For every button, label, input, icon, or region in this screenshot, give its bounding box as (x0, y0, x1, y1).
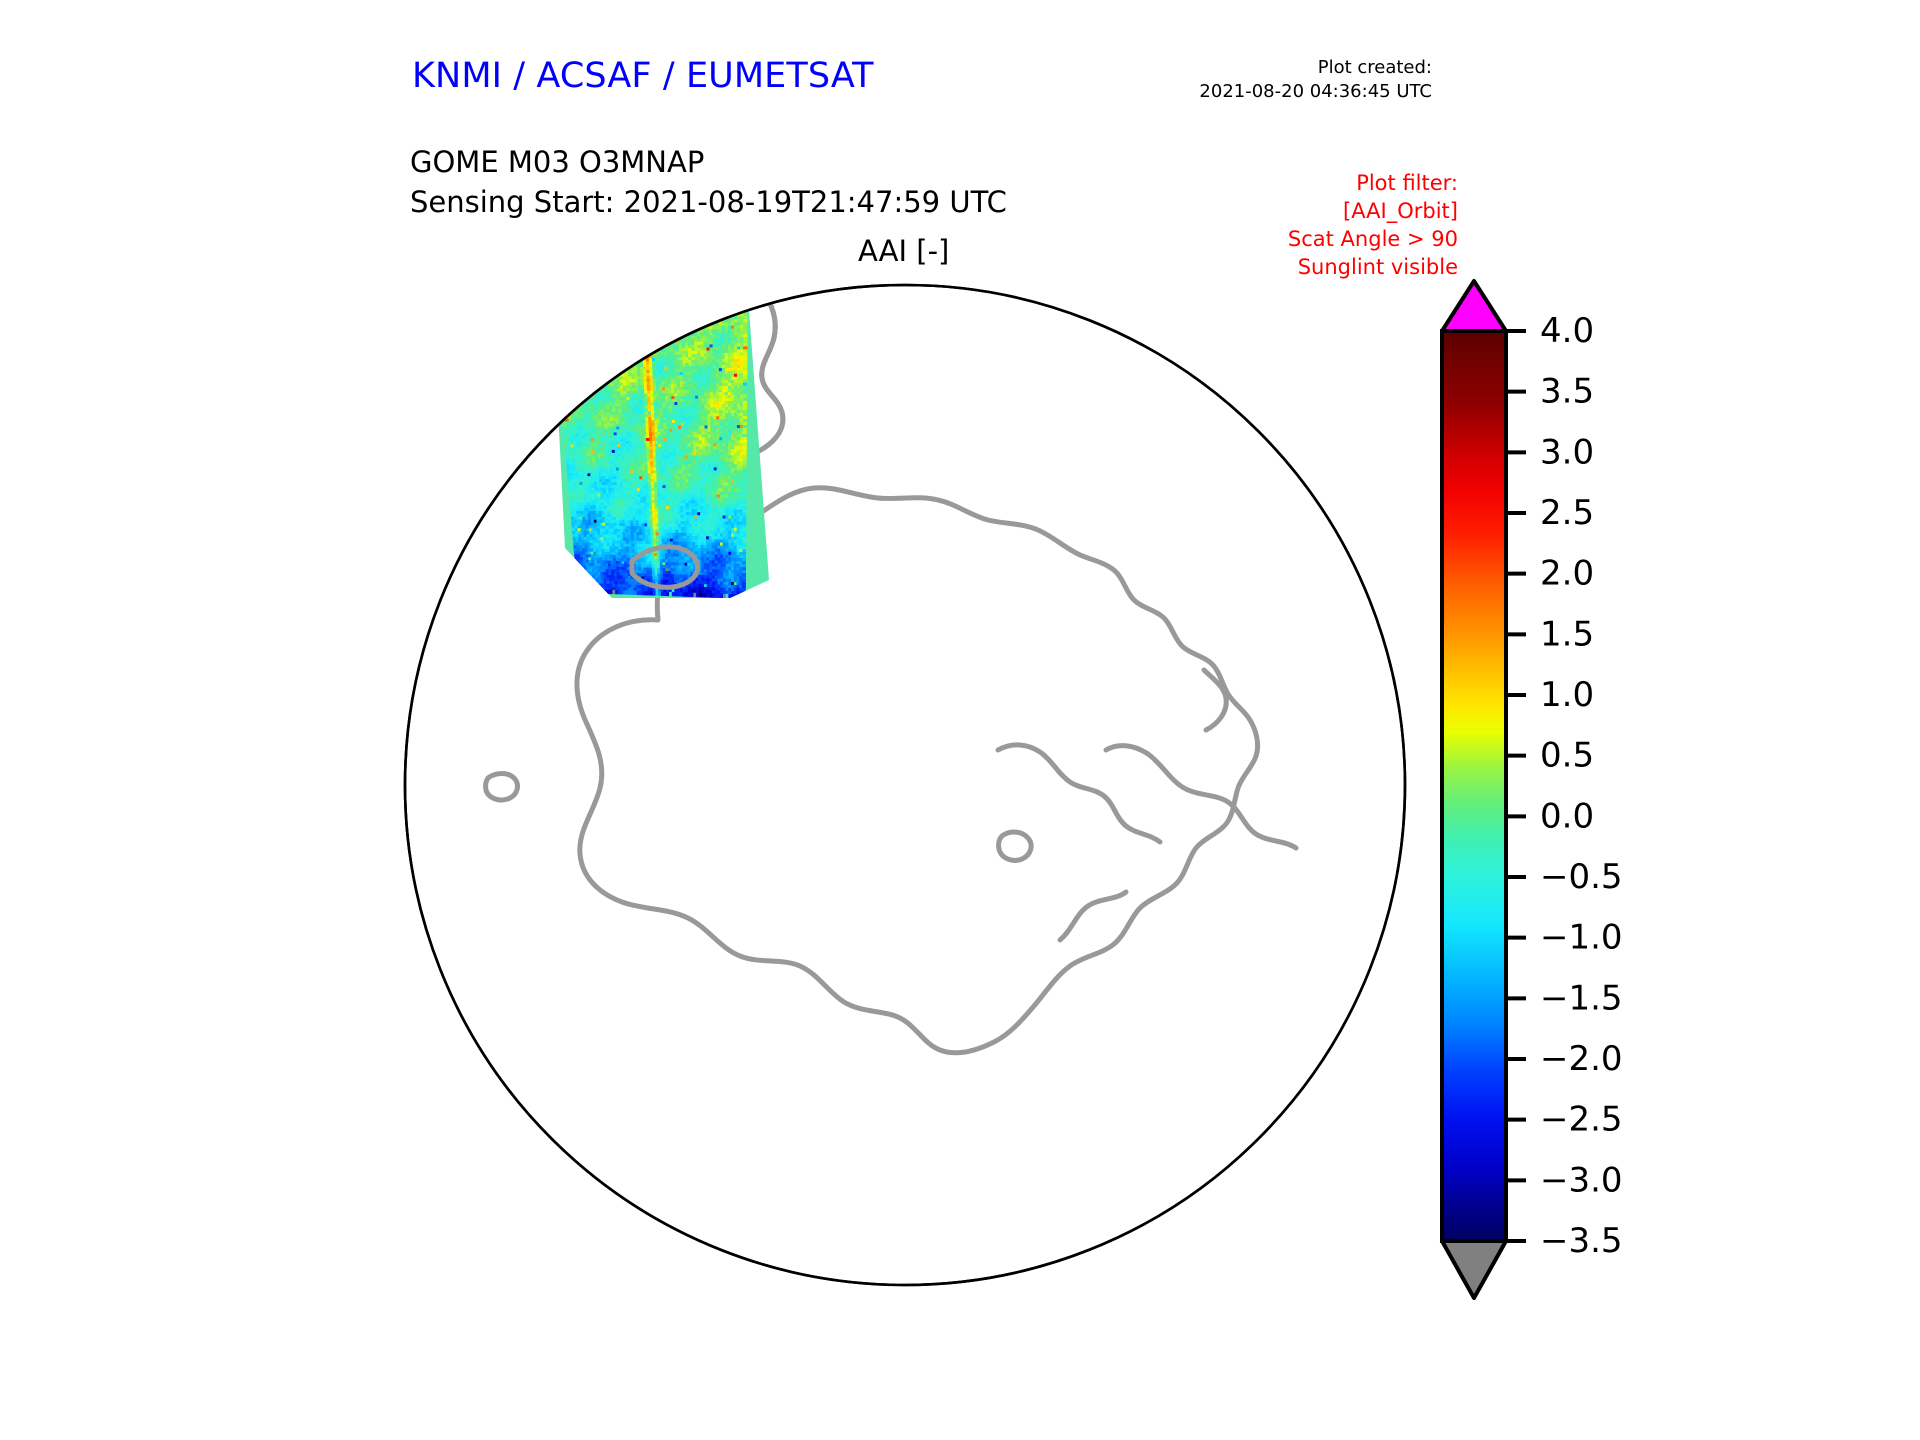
swath-pixel (554, 315, 559, 319)
swath-pixel (630, 338, 634, 342)
swath-pixel (651, 340, 655, 344)
swath-pixel (625, 300, 629, 304)
swath-pixel (579, 366, 583, 370)
swath-pixel (651, 331, 655, 335)
swath-pixel (561, 395, 565, 399)
swath-pixel (596, 336, 600, 340)
swath-pixel (587, 345, 591, 349)
swath-pixel (567, 398, 571, 402)
swath-pixel (573, 363, 577, 367)
swath-pixel (615, 356, 619, 360)
polar-map (400, 280, 1410, 1290)
swath-pixel (566, 358, 570, 362)
swath-pixel (622, 365, 626, 369)
swath-pixel (578, 308, 583, 312)
swath-pixel (624, 341, 628, 345)
swath-pixel (567, 404, 571, 408)
swath-pixel (592, 371, 596, 375)
swath-pixel (703, 306, 707, 310)
swath-pixel (622, 362, 626, 366)
swath-pixel (603, 354, 607, 358)
swath-pixel (642, 344, 646, 348)
swath-pixel (616, 315, 620, 319)
swath-pixel (559, 309, 564, 313)
swath-pixel (644, 311, 648, 315)
swath-pixel (587, 342, 591, 346)
swath-pixel (607, 365, 611, 369)
swath-pixel (636, 335, 640, 339)
swath-pixel (684, 291, 688, 295)
swath-pixel (576, 366, 580, 370)
swath-pixel (586, 328, 590, 332)
swath-pixel (621, 294, 625, 298)
swath-pixel (565, 300, 570, 304)
swath-pixel (699, 285, 703, 289)
swath-pixel (665, 301, 669, 305)
swath-pixel (602, 348, 606, 352)
swath-pixel (652, 290, 656, 294)
swath-pixel (625, 359, 629, 363)
swath-pixel (566, 308, 571, 312)
swath-pixel (583, 334, 587, 338)
swath-pixel (564, 291, 569, 295)
swath-pixel (615, 289, 620, 293)
swath-pixel (631, 306, 635, 310)
swath-pixel (687, 297, 691, 301)
swath-pixel (725, 296, 729, 300)
swath-pixel (623, 324, 627, 328)
swath-pixel (650, 299, 654, 303)
swath-pixel (597, 304, 602, 308)
swath-pixel (558, 294, 563, 298)
swath-pixel (734, 292, 738, 296)
swath-pixel (569, 355, 573, 359)
swath-pixel (633, 338, 637, 342)
swath-pixel (614, 336, 618, 340)
swath-pixel (684, 303, 688, 307)
swath-pixel (653, 320, 657, 324)
swath-pixel (558, 297, 563, 301)
swath-pixel (570, 326, 575, 330)
swath-pixel (615, 306, 619, 310)
swath-pixel (582, 366, 586, 370)
swath-pixel (584, 302, 589, 306)
swath-pixel (615, 350, 619, 354)
swath-pixel (571, 297, 576, 301)
swath-pixel (666, 337, 670, 341)
swath-pixel (688, 318, 692, 322)
swath-pixel (637, 294, 641, 298)
swath-pixel (595, 371, 599, 375)
swath-pixel (624, 353, 628, 357)
swath-pixel (570, 401, 574, 405)
swath-pixel (674, 286, 678, 290)
swath-pixel (622, 306, 626, 310)
swath-pixel (607, 315, 611, 319)
swath-pixel (606, 310, 610, 314)
filter-label: Plot filter: (1288, 170, 1458, 198)
swath-pixel (709, 311, 713, 315)
swath-pixel (663, 313, 667, 317)
swath-pixel (597, 363, 601, 367)
swath-pixel (563, 358, 567, 362)
swath-pixel (696, 285, 700, 289)
swath-pixel (662, 287, 666, 291)
swath-pixel (700, 312, 704, 316)
swath-pixel (600, 304, 605, 308)
swath-pixel (620, 327, 624, 331)
swath-pixel (600, 354, 604, 358)
swath-pixel (596, 383, 600, 387)
swath-pixel (567, 401, 571, 405)
plot-created-label: Plot created: (1199, 56, 1432, 80)
swath-pixel (626, 324, 630, 328)
swath-pixel (593, 342, 597, 346)
swath-pixel (615, 303, 619, 307)
swath-pixel (700, 318, 704, 322)
swath-pixel (697, 309, 701, 313)
swath-pixel (678, 301, 682, 305)
swath-pixel (625, 303, 629, 307)
swath-pixel (660, 331, 664, 335)
swath-pixel (656, 293, 660, 297)
swath-pixel (636, 341, 640, 345)
swath-pixel (630, 350, 634, 354)
swath-pixel (685, 321, 689, 325)
swath-pixel (712, 311, 716, 315)
swath-pixel (597, 316, 601, 320)
swath-pixel (572, 389, 576, 393)
swath-pixel (564, 323, 569, 327)
swath-pixel (693, 294, 697, 298)
swath-pixel (637, 297, 641, 301)
swath-pixel (740, 304, 744, 308)
swath-pixel (641, 323, 645, 327)
swath-pixel (580, 334, 584, 338)
swath-pixel (743, 286, 747, 290)
swath-pixel (603, 301, 608, 305)
swath-pixel (737, 301, 741, 305)
swath-pixel (659, 296, 663, 300)
swath-pixel (595, 331, 599, 335)
swath-pixel (556, 346, 561, 350)
swath-pixel (666, 319, 670, 323)
swath-pixel (637, 356, 641, 360)
swath-pixel (558, 326, 563, 330)
swath-pixel (552, 292, 557, 296)
swath-pixel (694, 312, 698, 316)
swath-pixel (574, 340, 578, 344)
swath-pixel (672, 307, 676, 311)
swath-pixel (571, 334, 576, 338)
swath-pixel (681, 315, 685, 319)
swath-pixel (694, 309, 698, 313)
swath-pixel (700, 291, 704, 295)
swath-pixel (657, 343, 661, 347)
swath-pixel (571, 375, 575, 379)
swath-pixel (621, 344, 625, 348)
swath-pixel (643, 299, 647, 303)
swath-pixel (681, 286, 685, 290)
swath-pixel (552, 297, 557, 301)
swath-pixel (585, 360, 589, 364)
swath-pixel (591, 310, 596, 314)
swath-pixel (636, 344, 640, 348)
swath-pixel (592, 374, 596, 378)
swath-pixel (588, 313, 593, 317)
swath-pixel (681, 292, 685, 296)
product-name: GOME M03 O3MNAP (410, 142, 1007, 182)
swath-pixel (595, 374, 599, 378)
swath-pixel (591, 357, 595, 361)
swath-pixel (578, 343, 582, 347)
swath-pixel (706, 314, 710, 318)
swath-pixel (565, 372, 569, 376)
swath-pixel (681, 318, 685, 322)
swath-pixel (575, 392, 579, 396)
swath-pixel (602, 345, 606, 349)
swath-pixel (565, 381, 569, 385)
swath-pixel (712, 308, 716, 312)
swath-pixel (659, 301, 663, 305)
swath-pixel (609, 307, 613, 311)
swath-pixel (653, 317, 657, 321)
swath-pixel (616, 312, 620, 316)
swath-pixel (630, 341, 634, 345)
swath-pixel (623, 338, 627, 342)
swath-pixel (602, 289, 607, 293)
swath-pixel (620, 333, 624, 337)
swath-pixel (612, 350, 616, 354)
swath-pixel (563, 355, 567, 359)
swath-pixel (585, 357, 589, 361)
swath-pixel (645, 346, 649, 350)
swath-pixel (643, 287, 647, 291)
swath-pixel (650, 314, 654, 318)
swath-pixel (696, 288, 700, 292)
swath-pixel (613, 321, 617, 325)
swath-pixel (576, 328, 581, 332)
swath-pixel (697, 306, 701, 310)
swath-pixel (601, 368, 605, 372)
swath-pixel (636, 350, 640, 354)
swath-pixel (561, 404, 565, 408)
swath-pixel (697, 321, 701, 325)
swath-pixel (690, 309, 694, 313)
swath-pixel (651, 337, 655, 341)
swath-pixel (624, 347, 628, 351)
swath-pixel (587, 348, 591, 352)
swath-pixel (586, 325, 590, 329)
swath-pixel (627, 344, 631, 348)
swath-pixel (570, 369, 574, 373)
swath-pixel (589, 334, 593, 338)
swath-pixel (725, 311, 729, 315)
swath-pixel (740, 292, 744, 296)
swath-pixel (654, 328, 658, 332)
swath-pixel (584, 383, 588, 387)
swath-pixel (728, 308, 732, 312)
swath-pixel (580, 340, 584, 344)
swath-pixel (740, 301, 744, 305)
swath-pixel (591, 366, 595, 370)
swath-pixel (665, 298, 669, 302)
swath-pixel (675, 316, 679, 320)
swath-pixel (605, 289, 610, 293)
swath-pixel (572, 346, 576, 350)
swath-pixel (556, 309, 561, 313)
swath-pixel (565, 303, 570, 307)
swath-pixel (690, 288, 694, 292)
swath-pixel (649, 293, 653, 297)
swath-pixel (567, 363, 571, 367)
swath-pixel (589, 331, 593, 335)
plot-created-timestamp: 2021-08-20 04:36:45 UTC (1199, 80, 1432, 104)
swath-pixel (565, 340, 570, 344)
swath-pixel (553, 309, 558, 313)
swath-pixel (734, 295, 738, 299)
swath-pixel (608, 292, 613, 296)
swath-pixel (617, 333, 621, 337)
swath-pixel (580, 372, 584, 376)
swath-pixel (558, 335, 563, 339)
swath-pixel (574, 381, 578, 385)
swath-pixel (647, 314, 651, 318)
swath-pixel (612, 292, 617, 296)
swath-pixel (590, 351, 594, 355)
swath-pixel (566, 349, 570, 353)
swath-pixel (562, 407, 566, 411)
swath-pixel (669, 304, 673, 308)
swath-pixel (631, 312, 635, 316)
swath-pixel (660, 322, 664, 326)
swath-pixel (554, 323, 559, 327)
swath-pixel (737, 307, 741, 311)
swath-pixel (562, 340, 567, 344)
swath-pixel (612, 306, 616, 310)
swath-pixel (629, 335, 633, 339)
swath-pixel (709, 302, 713, 306)
swath-pixel (672, 325, 676, 329)
swath-pixel (562, 381, 566, 385)
swath-pixel (648, 343, 652, 347)
swath-pixel (601, 319, 605, 323)
swath-pixel (584, 305, 589, 309)
swath-pixel (597, 351, 601, 355)
swath-pixel (608, 333, 612, 337)
swath-pixel (659, 299, 663, 303)
swath-pixel (566, 384, 570, 388)
swath-pixel (669, 322, 673, 326)
swath-pixel (568, 372, 572, 376)
swath-pixel (561, 398, 565, 402)
swath-pixel (586, 331, 590, 335)
filter-name: [AAI_Orbit] (1288, 198, 1458, 226)
swath-pixel (675, 304, 679, 308)
swath-pixel (740, 289, 744, 293)
swath-pixel (559, 306, 564, 310)
swath-pixel (662, 310, 666, 314)
swath-pixel (607, 374, 611, 378)
swath-pixel (662, 295, 666, 299)
swath-pixel (615, 297, 619, 301)
swath-pixel (582, 325, 586, 329)
swath-pixel (731, 304, 735, 308)
swath-pixel (596, 298, 601, 302)
swath-pixel (569, 346, 573, 350)
swath-pixel (634, 305, 638, 309)
swath-pixel (566, 387, 570, 391)
swath-pixel (555, 291, 560, 295)
swath-pixel (562, 303, 567, 307)
swath-pixel (641, 308, 645, 312)
swath-pixel (678, 316, 682, 320)
swath-pixel (678, 313, 682, 317)
swath-pixel (591, 363, 595, 367)
swath-pixel (624, 356, 628, 360)
swath-pixel (562, 410, 566, 414)
swath-pixel (659, 313, 663, 317)
swath-pixel (665, 286, 669, 290)
variable-label: AAI [-] (858, 234, 949, 268)
swath-pixel (706, 302, 710, 306)
swath-pixel (618, 347, 622, 351)
swath-pixel (654, 334, 658, 338)
swath-pixel (648, 332, 652, 336)
swath-pixel (684, 309, 688, 313)
swath-pixel (600, 301, 605, 305)
swath-pixel (602, 295, 607, 299)
swath-pixel (560, 352, 564, 356)
swath-pixel (605, 295, 610, 299)
swath-pixel (656, 299, 660, 303)
swath-pixel (669, 319, 673, 323)
swath-pixel (593, 339, 597, 343)
swath-pixel (647, 323, 651, 327)
swath-pixel (657, 319, 661, 323)
swath-pixel (567, 320, 572, 324)
swath-pixel (565, 337, 570, 341)
swath-pixel (649, 296, 653, 300)
swath-pixel (647, 317, 651, 321)
swath-pixel (590, 293, 595, 297)
swath-pixel (725, 302, 729, 306)
swath-pixel (625, 315, 629, 319)
swath-pixel (648, 337, 652, 341)
swath-pixel (588, 363, 592, 367)
swath-pixel (593, 383, 597, 387)
swath-pixel (639, 335, 643, 339)
swath-pixel (586, 369, 590, 373)
swath-pixel (718, 293, 722, 297)
swath-pixel (634, 297, 638, 301)
swath-pixel (619, 309, 623, 313)
swath-pixel (556, 338, 561, 342)
swath-pixel (700, 315, 704, 319)
swath-pixel (567, 332, 572, 336)
swath-pixel (722, 311, 726, 315)
swath-pixel (580, 337, 584, 341)
swath-pixel (609, 356, 613, 360)
swath-pixel (671, 289, 675, 293)
swath-pixel (621, 359, 625, 363)
swath-pixel (601, 327, 605, 331)
swath-pixel (589, 374, 593, 378)
swath-pixel (611, 330, 615, 334)
swath-pixel (583, 328, 587, 332)
swath-pixel (608, 336, 612, 340)
swath-pixel (629, 326, 633, 330)
